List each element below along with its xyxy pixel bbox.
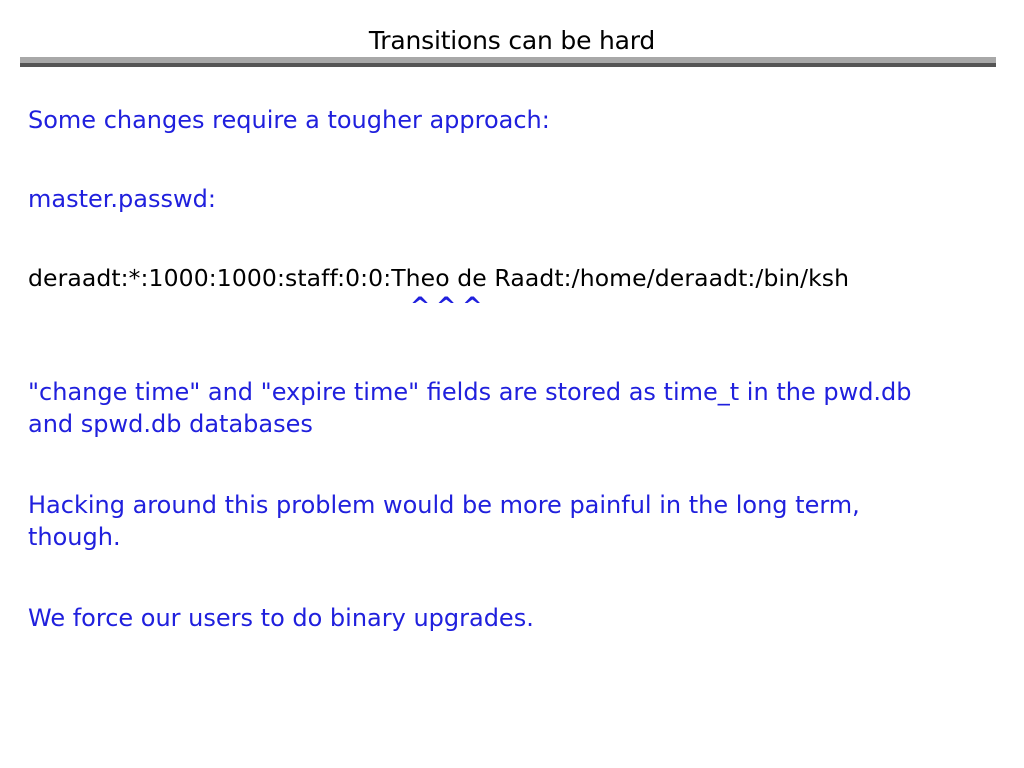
force-note-text: We force our users to do binary upgrades… (28, 602, 534, 634)
hacking-note-text: Hacking around this problem would be mor… (28, 489, 958, 553)
intro-text: Some changes require a tougher approach: (28, 104, 550, 136)
caret-marker: ^^^ (410, 290, 488, 312)
file-label-master-passwd: master.passwd: (28, 183, 216, 215)
fields-note-text: "change time" and "expire time" fields a… (28, 376, 958, 440)
slide-body: Some changes require a tougher approach:… (28, 104, 996, 704)
title-divider (20, 57, 996, 67)
slide: Transitions can be hard Some changes req… (0, 0, 1024, 768)
title-divider-dark-band (20, 63, 996, 67)
page-title: Transitions can be hard (0, 26, 1024, 56)
